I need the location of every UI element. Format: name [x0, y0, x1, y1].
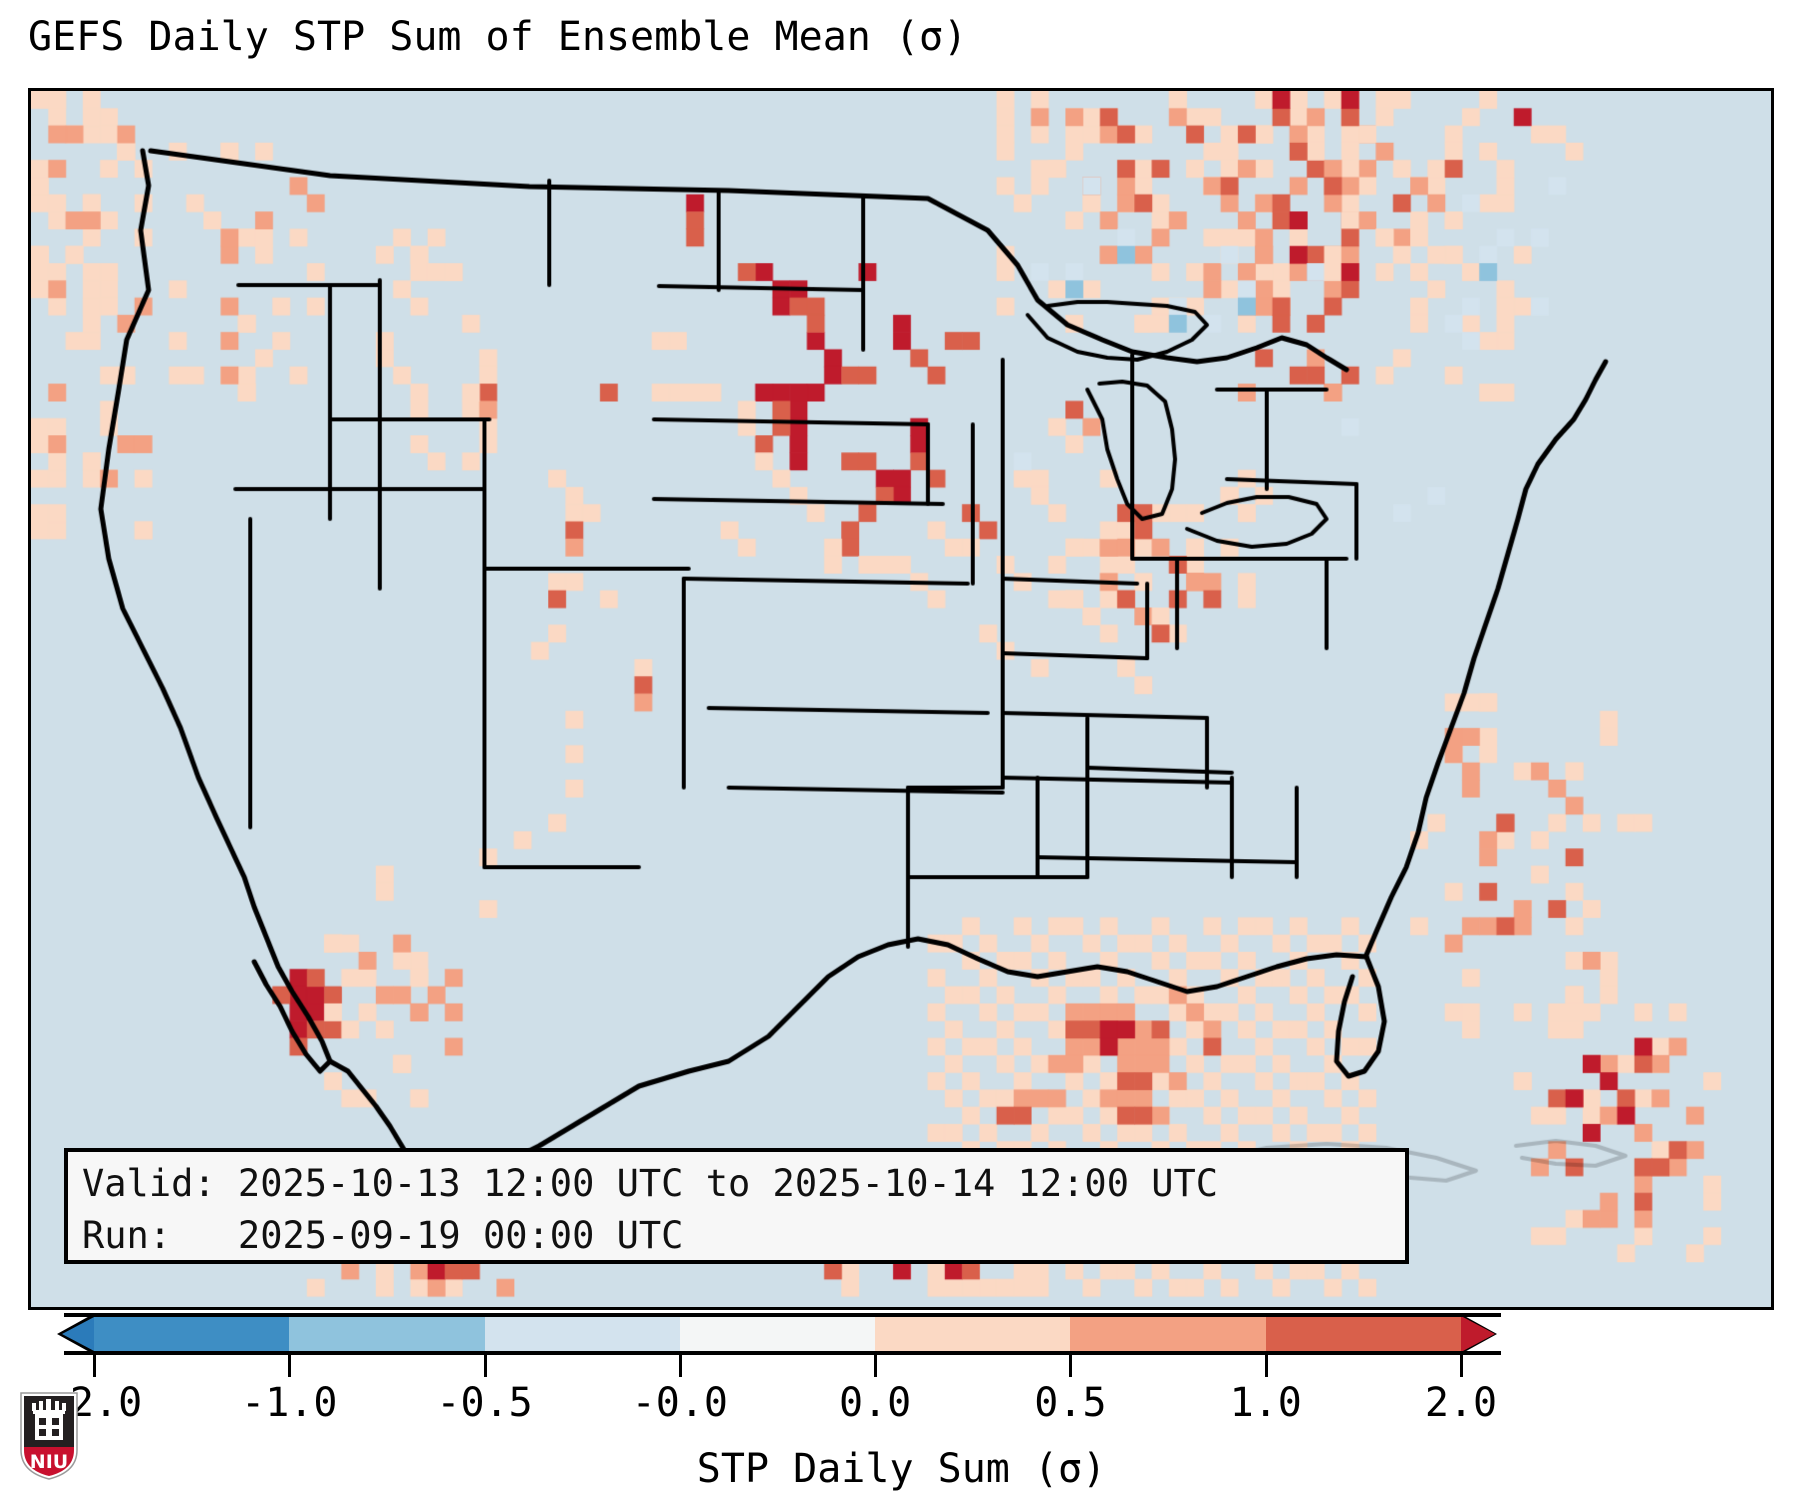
colorbar-bottom-rule [64, 1351, 1501, 1355]
colorbar-tick-label-6: 1.0 [1230, 1380, 1302, 1426]
colorbar-tick-2 [484, 1355, 487, 1377]
colorbar-tick-0 [93, 1355, 96, 1377]
figure-root: GEFS Daily STP Sum of Ensemble Mean (σ) … [0, 0, 1803, 1506]
colorbar-tick-1 [288, 1355, 291, 1377]
colorbar-band [94, 1316, 1461, 1352]
niu-logo: NIU [18, 1390, 80, 1482]
colorbar-segment-3 [680, 1316, 875, 1352]
colorbar-extend-left-arrow [62, 1316, 96, 1352]
colorbar-segment-4 [875, 1316, 1070, 1352]
colorbar-tick-label-7: 2.0 [1425, 1380, 1497, 1426]
page-title: GEFS Daily STP Sum of Ensemble Mean (σ) [28, 14, 967, 60]
colorbar-segment-0 [94, 1316, 289, 1352]
valid-run-info-box: Valid: 2025-10-13 12:00 UTC to 2025-10-1… [64, 1148, 1409, 1264]
valid-time-line: Valid: 2025-10-13 12:00 UTC to 2025-10-1… [82, 1158, 1391, 1210]
run-time-line: Run: 2025-09-19 00:00 UTC [82, 1210, 1391, 1262]
colorbar-tick-label-1: -1.0 [241, 1380, 337, 1426]
colorbar-segment-6 [1266, 1316, 1461, 1352]
colorbar-tick-6 [1265, 1355, 1268, 1377]
colorbar: -2.0-1.0-0.5-0.00.00.51.02.0 STP Daily S… [0, 1316, 1803, 1506]
colorbar-tick-4 [874, 1355, 877, 1377]
map-heatmap-canvas [31, 91, 1771, 1307]
colorbar-segment-2 [485, 1316, 680, 1352]
colorbar-tick-7 [1460, 1355, 1463, 1377]
colorbar-segment-1 [289, 1316, 484, 1352]
colorbar-tick-5 [1069, 1355, 1072, 1377]
colorbar-tick-label-5: 0.5 [1034, 1380, 1106, 1426]
colorbar-tick-label-4: 0.0 [839, 1380, 911, 1426]
colorbar-axis-label: STP Daily Sum (σ) [0, 1446, 1803, 1492]
niu-logo-text: NIU [30, 1451, 68, 1473]
colorbar-segment-5 [1070, 1316, 1265, 1352]
colorbar-tick-3 [679, 1355, 682, 1377]
map-panel [28, 88, 1774, 1310]
colorbar-extend-right-arrow [1461, 1316, 1495, 1352]
colorbar-tick-label-2: -0.5 [436, 1380, 532, 1426]
colorbar-segments [94, 1316, 1461, 1352]
colorbar-tick-label-3: -0.0 [632, 1380, 728, 1426]
colorbar-top-rule [64, 1313, 1501, 1317]
